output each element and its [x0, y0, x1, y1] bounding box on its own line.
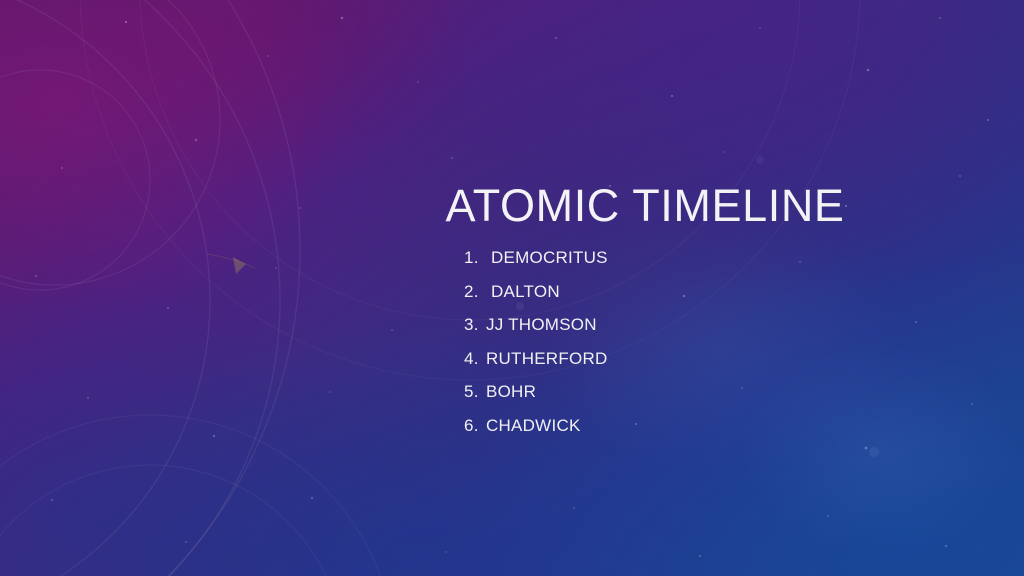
list-item: 6.CHADWICK [464, 416, 608, 450]
list-item-number: 1. [464, 248, 486, 268]
list-item-number: 3. [464, 315, 486, 335]
list-item-number: 2. [464, 282, 486, 302]
list-item-label: DALTON [486, 282, 560, 302]
numbered-list: 1. DEMOCRITUS 2. DALTON 3.JJ THOMSON 4.R… [464, 248, 608, 449]
list-item: 5.BOHR [464, 382, 608, 416]
slide-content: ATOMIC TIMELINE 1. DEMOCRITUS 2. DALTON … [0, 0, 1024, 576]
list-item-number: 5. [464, 382, 486, 402]
presentation-slide: ATOMIC TIMELINE 1. DEMOCRITUS 2. DALTON … [0, 0, 1024, 576]
list-item-label: BOHR [486, 382, 536, 402]
list-item: 3.JJ THOMSON [464, 315, 608, 349]
list-item-number: 6. [464, 416, 486, 436]
list-item: 4.RUTHERFORD [464, 349, 608, 383]
list-item-number: 4. [464, 349, 486, 369]
list-item-label: JJ THOMSON [486, 315, 597, 335]
slide-title: ATOMIC TIMELINE [445, 182, 845, 229]
list-item: 2. DALTON [464, 282, 608, 316]
list-item-label: DEMOCRITUS [486, 248, 608, 268]
list-item-label: RUTHERFORD [486, 349, 608, 369]
list-item-label: CHADWICK [486, 416, 581, 436]
list-item: 1. DEMOCRITUS [464, 248, 608, 282]
